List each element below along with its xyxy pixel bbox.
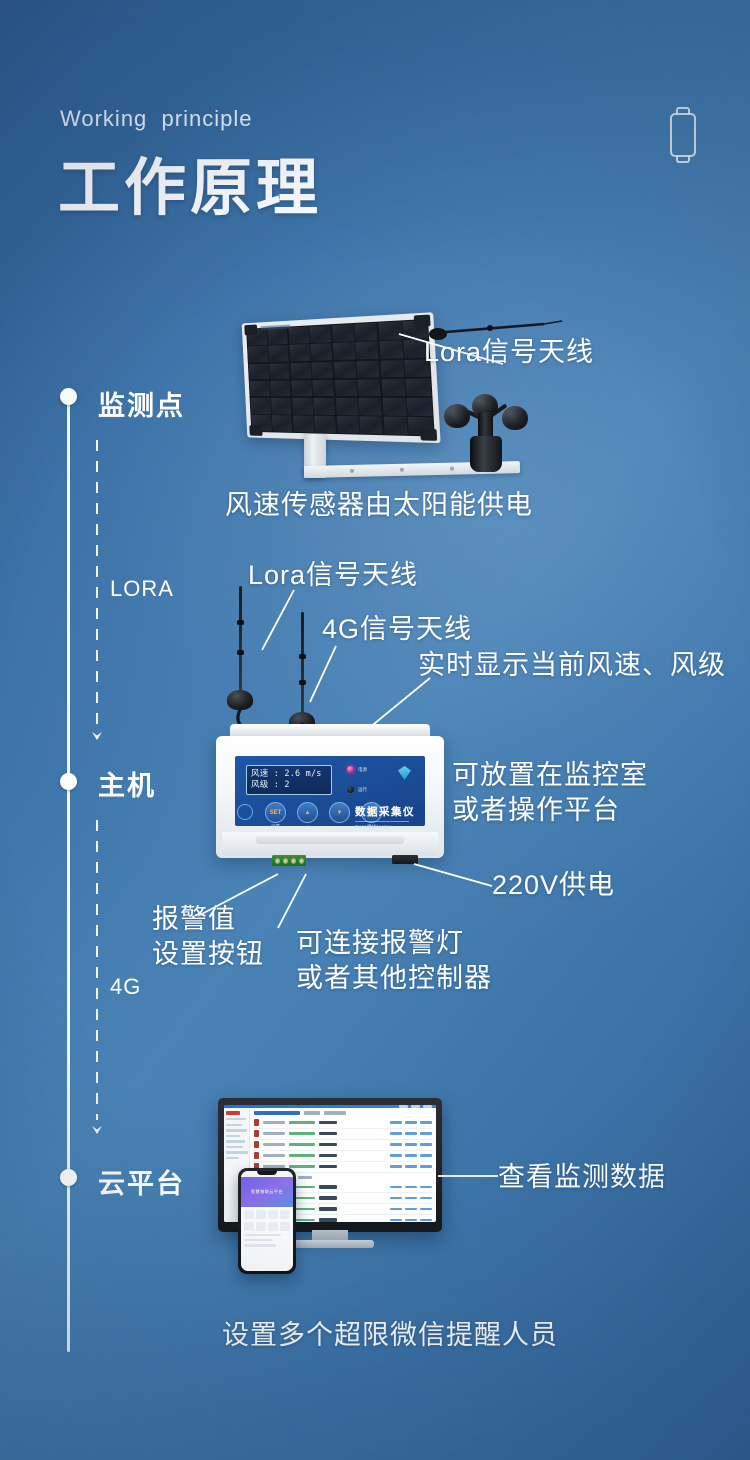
relay-terminal-block [272, 855, 306, 866]
timeline-protocol-4g: 4G [110, 974, 141, 1000]
leader-line-relay [276, 872, 320, 932]
down-button-caption: - [329, 824, 350, 829]
down-button[interactable]: ▼ [329, 802, 350, 823]
callout-realtime-display: 实时显示当前风速、风级 [418, 648, 726, 683]
phone-app-grid [241, 1207, 293, 1234]
device-housing: 风速 : 2.6 m/s 风级 : 2 电源 运行 SET 设置 ▲ + ▼ [216, 736, 444, 858]
device-vent-slot [256, 836, 404, 844]
table-header [254, 1111, 432, 1115]
timeline-dashed-4g [96, 820, 98, 1120]
lora-antenna-bead [237, 650, 244, 655]
mobile-phone: 智慧物联云平台 [238, 1168, 296, 1274]
set-button[interactable]: SET [265, 802, 286, 823]
table-row [254, 1129, 432, 1140]
fourg-antenna-bead [299, 654, 306, 659]
timeline-label-monitor-point: 监测点 [98, 384, 185, 423]
brand-gem-icon [398, 766, 411, 780]
run-led-icon [347, 786, 354, 793]
callout-4g-antenna: 4G信号天线 [322, 612, 472, 647]
antenna-pair [218, 586, 418, 738]
timeline-arrow-4g [90, 1122, 104, 1134]
power-terminal-block [392, 855, 418, 864]
lora-antenna-bead [237, 620, 244, 625]
power-led-icon [347, 766, 354, 773]
caption-solar-powered-sensor: 风速传感器由太阳能供电 [225, 488, 533, 523]
anemometer-cup [444, 404, 470, 428]
leader-line-view-data [438, 1172, 500, 1180]
timeline-arrow-lora [90, 728, 104, 740]
phone-hero-text: 智慧物联云平台 [251, 1189, 283, 1195]
set-button-caption: 设置 [265, 824, 286, 830]
phone-list [241, 1234, 293, 1247]
data-collector-device: 风速 : 2.6 m/s 风级 : 2 电源 运行 SET 设置 ▲ + ▼ [216, 724, 444, 870]
device-brand-cn: 数据采集仪 [355, 804, 415, 819]
lora-antenna-rod [239, 586, 242, 694]
solar-cell-grid [246, 319, 435, 437]
timeline-dashed-lora [96, 440, 98, 730]
lcd-line-wind-level: 风级 : 2 [251, 780, 327, 791]
callout-placement: 可放置在监控室 或者操作平台 [452, 758, 648, 828]
capsule-bottom-cap [676, 156, 690, 163]
solar-panel [242, 312, 441, 443]
device-front-panel: 风速 : 2.6 m/s 风级 : 2 电源 运行 SET 设置 ▲ + ▼ [235, 756, 425, 826]
timeline-label-cloud: 云平台 [98, 1162, 185, 1201]
capsule-outline-icon [668, 106, 698, 164]
poster-canvas: Working principle 工作原理 监测点 主机 云平台 LORA 4… [0, 0, 750, 1460]
capsule-body [670, 113, 696, 157]
phone-hero-banner: 智慧物联云平台 [241, 1177, 293, 1207]
timeline-dot-cloud [60, 1169, 77, 1186]
callout-alarm-setting-button: 报警值 设置按钮 [152, 902, 264, 972]
lcd-line-wind-speed: 风速 : 2.6 m/s [251, 769, 327, 780]
table-row [254, 1140, 432, 1151]
device-branding: 数据采集仪 Data collector [355, 804, 415, 829]
up-button-caption: + [297, 824, 318, 829]
wind-speed-sensor [442, 390, 536, 476]
lcd-display: 风速 : 2.6 m/s 风级 : 2 [246, 765, 332, 795]
monitor-stand-base [286, 1240, 374, 1248]
callout-lora-antenna-top: Lora信号天线 [424, 335, 594, 370]
timeline-axis [67, 394, 70, 1352]
device-brand-rule [355, 821, 409, 822]
header-subtitle-en: Working principle [60, 106, 252, 132]
table-row [254, 1151, 432, 1162]
callout-lora-antenna-host: Lora信号天线 [248, 558, 418, 593]
callout-220v-power: 220V供电 [492, 868, 615, 903]
up-button[interactable]: ▲ [297, 802, 318, 823]
fourg-antenna-rod [301, 612, 304, 718]
device-brand-en: Data collector [355, 824, 415, 829]
run-led-label: 运行 [358, 787, 367, 793]
page-title: 工作原理 [58, 158, 322, 220]
timeline-dot-monitor-point [60, 388, 77, 405]
timeline-protocol-lora: LORA [110, 576, 174, 602]
phone-notch [257, 1171, 277, 1175]
callout-view-monitoring-data: 查看监测数据 [498, 1160, 666, 1195]
timeline-label-host: 主机 [98, 764, 156, 803]
power-led-label: 电源 [358, 767, 367, 773]
callout-relay-output: 可连接报警灯 或者其他控制器 [296, 926, 492, 996]
table-row [254, 1118, 432, 1129]
caption-wechat-alerts: 设置多个超限微信提醒人员 [222, 1318, 558, 1353]
timeline-dot-host [60, 773, 77, 790]
anemometer-cup [502, 406, 528, 430]
phone-screen: 智慧物联云平台 [241, 1171, 293, 1271]
anemometer-body [470, 436, 502, 472]
fourg-antenna-bead [299, 680, 306, 685]
